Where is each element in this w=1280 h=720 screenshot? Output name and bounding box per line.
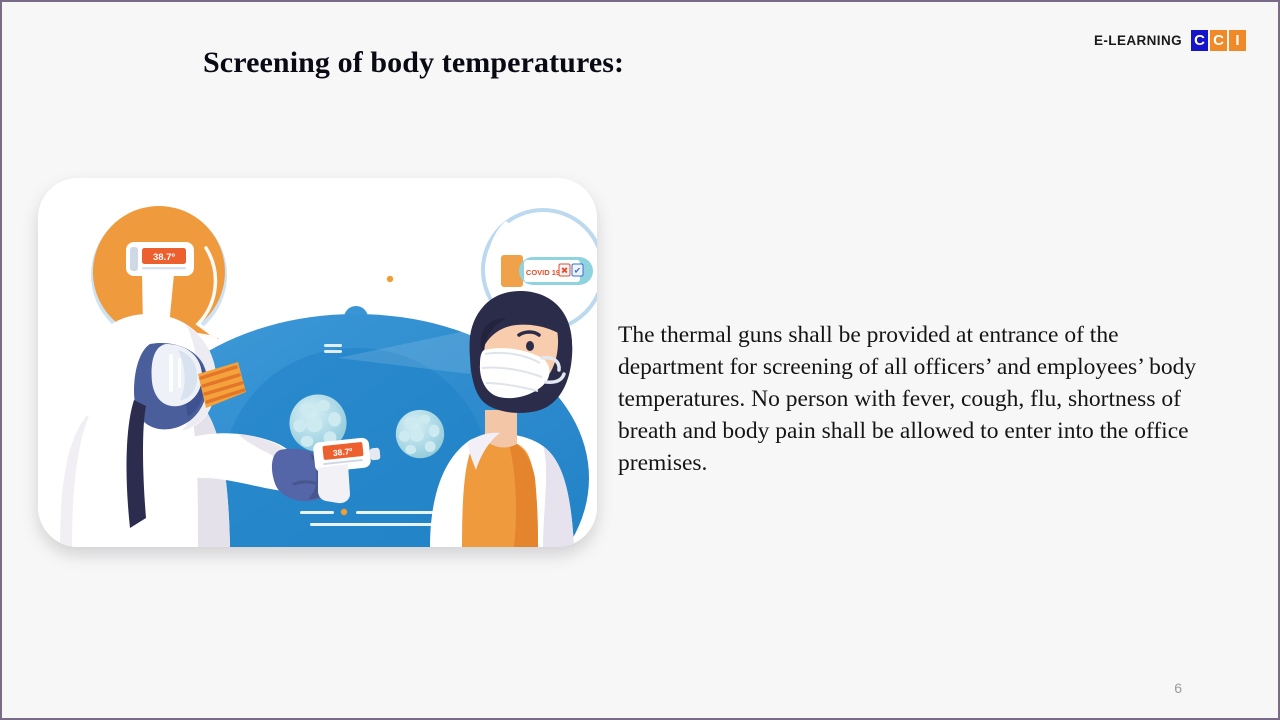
brand-text: E-LEARNING <box>1094 33 1182 48</box>
logo-tile-i: I <box>1229 30 1246 51</box>
temperature-screening-illustration: 38.7º COVID 19 ✖ ✔ <box>38 178 597 547</box>
page-number: 6 <box>1174 680 1182 696</box>
slide-canvas: E-LEARNING C C I Screening of body tempe… <box>0 0 1280 720</box>
logo-tile-c1: C <box>1191 30 1208 51</box>
page-title: Screening of body temperatures: <box>203 46 624 80</box>
covid-test-label: COVID 19 <box>526 268 560 277</box>
svg-text:✖: ✖ <box>561 266 569 276</box>
svg-text:✔: ✔ <box>574 266 582 276</box>
cci-logo: C C I <box>1191 30 1246 51</box>
body-paragraph: The thermal guns shall be provided at en… <box>618 319 1230 479</box>
thermometer-reading: 38.7º <box>153 252 175 263</box>
brand-bar: E-LEARNING C C I <box>1094 30 1246 51</box>
svg-text:38.7º: 38.7º <box>332 446 353 458</box>
illustration-card: 38.7º COVID 19 ✖ ✔ <box>38 178 597 547</box>
logo-tile-c2: C <box>1210 30 1227 51</box>
